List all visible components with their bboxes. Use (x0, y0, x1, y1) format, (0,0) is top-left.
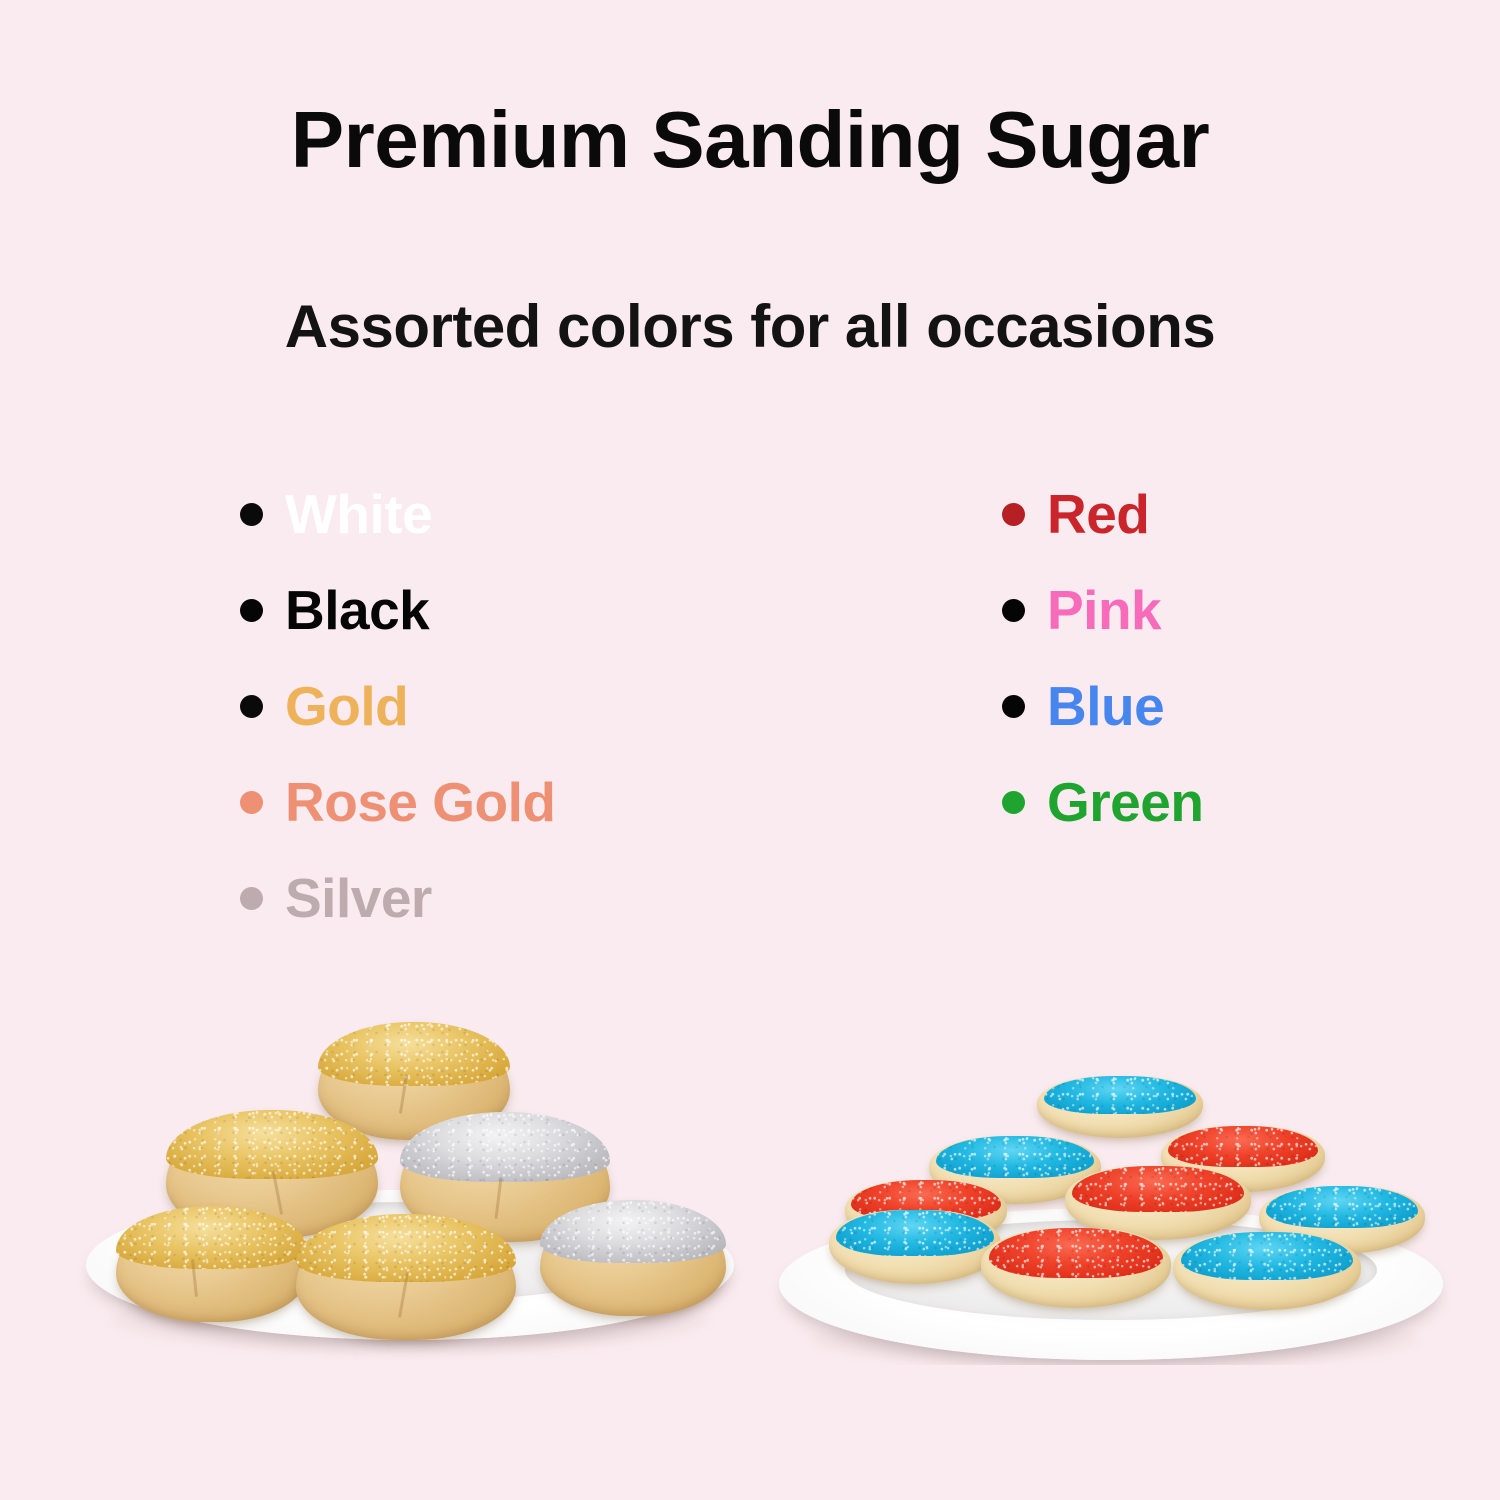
sugar-coating-red (1072, 1166, 1243, 1212)
list-item: Green (1002, 754, 1203, 850)
sugar-grain-texture (836, 1210, 994, 1256)
sugar-coating-red (1168, 1126, 1319, 1167)
color-name-blue: Blue (1047, 679, 1164, 734)
list-item: Red (1002, 466, 1203, 562)
bullet-icon (240, 695, 263, 718)
list-item: Blue (1002, 658, 1203, 754)
sugar-coating-blue (1044, 1076, 1197, 1114)
plate-of-red-and-blue-sugar-cookies (765, 1060, 1455, 1365)
plate-of-gold-and-silver-sugar-cookies (70, 1000, 750, 1360)
color-list-left-column: White Black Gold Rose Gold Silver (240, 466, 556, 946)
sugar-coating-blue (936, 1136, 1094, 1178)
sugar-grain-texture (1044, 1076, 1197, 1114)
bullet-icon (240, 887, 263, 910)
list-item: Rose Gold (240, 754, 556, 850)
list-item: Black (240, 562, 556, 658)
bullet-icon (240, 791, 263, 814)
sugar-grain-texture (989, 1228, 1164, 1278)
color-list-right-column: Red Pink Blue Green (1002, 466, 1203, 850)
bullet-icon (1002, 599, 1025, 622)
sugar-grain-texture (936, 1136, 1094, 1178)
sugar-grain-texture (1181, 1232, 1354, 1280)
color-name-rose-gold: Rose Gold (285, 775, 556, 830)
cookie (1173, 1232, 1361, 1310)
color-name-green: Green (1047, 775, 1203, 830)
cookie (116, 1206, 308, 1322)
list-item: Gold (240, 658, 556, 754)
cookie-crack (494, 1177, 502, 1219)
cookie (981, 1228, 1171, 1308)
sugar-coating-red (989, 1228, 1164, 1278)
color-name-red: Red (1047, 487, 1149, 542)
cookie (540, 1200, 726, 1316)
sugar-coating-blue (1181, 1232, 1354, 1280)
cookie (296, 1214, 516, 1340)
bullet-icon (240, 599, 263, 622)
list-item: White (240, 466, 556, 562)
color-name-gold: Gold (285, 679, 408, 734)
color-name-white: White (285, 487, 432, 542)
sugar-grain-texture (1072, 1166, 1243, 1212)
page-title: Premium Sanding Sugar (0, 96, 1500, 184)
color-options-list: White Black Gold Rose Gold Silver (0, 466, 1500, 946)
color-name-silver: Silver (285, 871, 432, 926)
bullet-icon (240, 503, 263, 526)
sugar-grain-texture (1266, 1186, 1419, 1228)
bullet-icon (1002, 695, 1025, 718)
cookie (1037, 1076, 1203, 1138)
color-name-black: Black (285, 583, 429, 638)
color-name-pink: Pink (1047, 583, 1161, 638)
bullet-icon (1002, 791, 1025, 814)
page-subtitle: Assorted colors for all occasions (0, 294, 1500, 360)
list-item: Pink (1002, 562, 1203, 658)
sugar-grain-texture (1168, 1126, 1319, 1167)
sugar-coating-gold (318, 1022, 510, 1086)
list-item: Silver (240, 850, 556, 946)
sugar-coating-blue (1266, 1186, 1419, 1228)
cookie (829, 1210, 1001, 1284)
bullet-icon (1002, 503, 1025, 526)
sugar-coating-blue (836, 1210, 994, 1256)
product-infographic: Premium Sanding Sugar Assorted colors fo… (0, 0, 1500, 1500)
sugar-grain-texture (318, 1022, 510, 1086)
